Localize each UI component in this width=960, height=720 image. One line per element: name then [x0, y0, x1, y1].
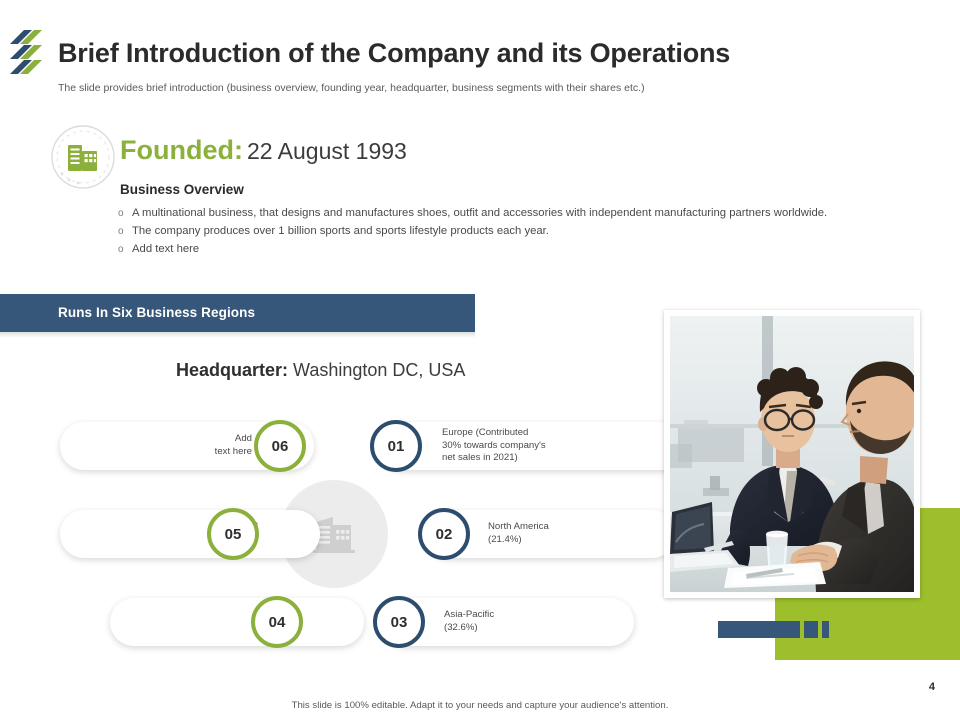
region-number-04: 04: [269, 614, 286, 631]
region-label-03: Asia-Pacific(32.6%): [444, 609, 494, 634]
accent-bar-small: [822, 621, 829, 638]
bullet-marker-icon: o: [118, 241, 132, 258]
headquarter-label: Headquarter:: [176, 360, 288, 380]
accent-bar-long: [718, 621, 800, 638]
region-number-03: 03: [391, 614, 408, 631]
meeting-photo: [670, 316, 914, 592]
region-node-05[interactable]: 05: [207, 508, 259, 560]
bullet-marker-icon: o: [118, 205, 132, 222]
region-pill-05[interactable]: Addtext here: [60, 510, 320, 558]
business-overview-list: o A multinational business, that designs…: [118, 205, 860, 259]
region-node-04[interactable]: 04: [251, 596, 303, 648]
region-number-06: 06: [272, 438, 289, 455]
region-node-06[interactable]: 06: [254, 420, 306, 472]
list-item-text: Add text here: [132, 241, 860, 257]
headquarter-value: Washington DC, USA: [288, 360, 465, 380]
founded-line: Founded:22 August 1993: [120, 135, 407, 166]
headquarter-line: Headquarter: Washington DC, USA: [176, 360, 465, 381]
two-businessmen-meeting-illustration: [670, 316, 914, 592]
regions-diagram: Addtext here 06 Europe (Contributed30% t…: [52, 400, 632, 670]
region-number-02: 02: [436, 526, 453, 543]
dashed-ring-building-icon: [48, 122, 118, 192]
founded-label: Founded:: [120, 135, 243, 165]
list-item: o Add text here: [118, 241, 860, 258]
region-pill-04[interactable]: Australia(2.7%): [110, 598, 364, 646]
region-label-06: Addtext here: [215, 433, 252, 458]
diagonal-stripes-logo-icon: [8, 28, 50, 78]
accent-bar-medium: [804, 621, 818, 638]
region-node-01[interactable]: 01: [370, 420, 422, 472]
list-item: o The company produces over 1 billion sp…: [118, 223, 860, 240]
region-number-05: 05: [225, 526, 242, 543]
company-logo: [8, 28, 50, 78]
slide: Brief Introduction of the Company and it…: [0, 0, 960, 720]
region-node-02[interactable]: 02: [418, 508, 470, 560]
meeting-photo-frame: [664, 310, 920, 598]
regions-banner-shadow: [0, 332, 475, 338]
list-item-text: A multinational business, that designs a…: [132, 205, 860, 221]
founded-value: 22 August 1993: [247, 138, 407, 164]
regions-banner-label: Runs In Six Business Regions: [58, 305, 255, 320]
region-pill-01[interactable]: Europe (Contributed30% towards company's…: [380, 422, 690, 470]
region-label-01: Europe (Contributed30% towards company's…: [442, 427, 546, 465]
page-subtitle: The slide provides brief introduction (b…: [58, 82, 645, 94]
business-overview-title: Business Overview: [120, 182, 244, 197]
page-number: 4: [929, 681, 935, 693]
bullet-marker-icon: o: [118, 223, 132, 240]
page-title: Brief Introduction of the Company and it…: [58, 38, 730, 69]
list-item: o A multinational business, that designs…: [118, 205, 860, 222]
footer-note: This slide is 100% editable. Adapt it to…: [0, 700, 960, 711]
founded-badge: [48, 122, 118, 192]
region-label-02: North America(21.4%): [488, 521, 549, 546]
region-number-01: 01: [388, 438, 405, 455]
region-node-03[interactable]: 03: [373, 596, 425, 648]
list-item-text: The company produces over 1 billion spor…: [132, 223, 860, 239]
